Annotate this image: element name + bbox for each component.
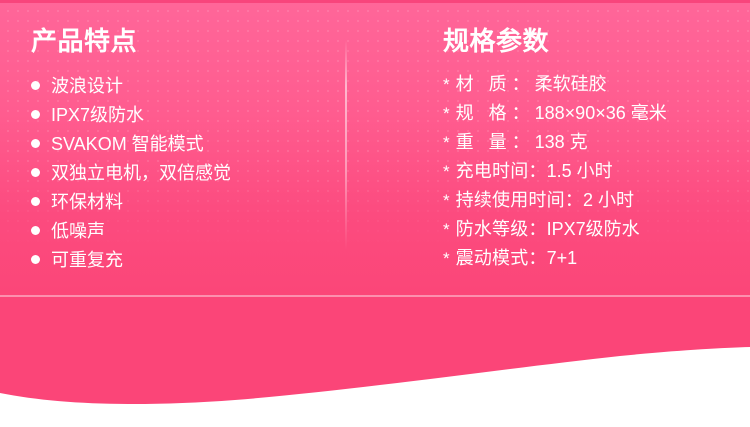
info-section: 产品特点 波浪设计 IPX7级防水 SVAKOM 智能模式 双独立电机，双倍感觉 xyxy=(0,2,750,297)
spec-value: 1.5 小时 xyxy=(547,157,613,183)
table-row: * 充电时间： 1.5 小时 xyxy=(443,157,743,186)
features-list: 波浪设计 IPX7级防水 SVAKOM 智能模式 双独立电机，双倍感觉 环保材料 xyxy=(31,54,341,274)
spec-value: 柔软硅胶 xyxy=(535,70,607,96)
list-item: 可重复充 xyxy=(31,245,341,274)
spec-value: 2 小时 xyxy=(583,186,634,212)
spec-value: 188×90×36 毫米 xyxy=(535,99,667,125)
table-row: * 震动模式： 7+1 xyxy=(443,244,743,273)
feature-label: SVAKOM 智能模式 xyxy=(51,135,204,153)
bullet-icon xyxy=(31,197,40,206)
table-row: * 持续使用时间： 2 小时 xyxy=(443,186,743,215)
list-item: IPX7级防水 xyxy=(31,100,341,129)
asterisk-icon: * xyxy=(443,221,450,238)
features-panel: 产品特点 波浪设计 IPX7级防水 SVAKOM 智能模式 双独立电机，双倍感觉 xyxy=(31,2,341,274)
table-row: * 规 格： 188×90×36 毫米 xyxy=(443,99,743,128)
spec-value: IPX7级防水 xyxy=(547,215,640,241)
feature-label: 低噪声 xyxy=(51,222,105,240)
asterisk-icon: * xyxy=(443,105,450,122)
table-row: * 材 质： 柔软硅胶 xyxy=(443,70,743,99)
features-panel-title: 产品特点 xyxy=(31,2,341,54)
spec-key: 防水等级： xyxy=(456,215,547,241)
panel-divider xyxy=(345,40,347,250)
wave-decoration xyxy=(0,347,750,427)
feature-label: 波浪设计 xyxy=(51,77,123,95)
feature-label: IPX7级防水 xyxy=(51,106,144,124)
spec-value: 7+1 xyxy=(547,248,578,269)
bullet-icon xyxy=(31,168,40,177)
spec-key: 持续使用时间： xyxy=(456,186,583,212)
top-hairline xyxy=(0,0,750,3)
spec-key: 震动模式： xyxy=(456,244,547,270)
section-separator-line xyxy=(0,295,750,297)
bullet-icon xyxy=(31,110,40,119)
bullet-icon xyxy=(31,81,40,90)
bullet-icon xyxy=(31,139,40,148)
feature-label: 双独立电机，双倍感觉 xyxy=(51,164,231,182)
specs-panel-title: 规格参数 xyxy=(443,2,743,54)
asterisk-icon: * xyxy=(443,250,450,267)
feature-label: 环保材料 xyxy=(51,193,123,211)
specs-panel: 规格参数 * 材 质： 柔软硅胶 * 规 格： 188×90×36 毫米 * 重… xyxy=(443,2,743,273)
feature-label: 可重复充 xyxy=(51,251,123,269)
asterisk-icon: * xyxy=(443,76,450,93)
list-item: SVAKOM 智能模式 xyxy=(31,129,341,158)
table-row: * 重 量： 138 克 xyxy=(443,128,743,157)
spec-key: 材 质： xyxy=(456,70,535,96)
list-item: 双独立电机，双倍感觉 xyxy=(31,158,341,187)
spec-value: 138 克 xyxy=(535,128,588,154)
asterisk-icon: * xyxy=(443,134,450,151)
list-item: 低噪声 xyxy=(31,216,341,245)
specs-list: * 材 质： 柔软硅胶 * 规 格： 188×90×36 毫米 * 重 量： 1… xyxy=(443,54,743,273)
bullet-icon xyxy=(31,226,40,235)
asterisk-icon: * xyxy=(443,192,450,209)
bullet-icon xyxy=(31,255,40,264)
list-item: 波浪设计 xyxy=(31,71,341,100)
table-row: * 防水等级： IPX7级防水 xyxy=(443,215,743,244)
wave-section xyxy=(0,297,750,427)
spec-key: 重 量： xyxy=(456,128,535,154)
list-item: 环保材料 xyxy=(31,187,341,216)
spec-key: 充电时间： xyxy=(456,157,547,183)
spec-key: 规 格： xyxy=(456,99,535,125)
asterisk-icon: * xyxy=(443,163,450,180)
product-info-banner: 产品特点 波浪设计 IPX7级防水 SVAKOM 智能模式 双独立电机，双倍感觉 xyxy=(0,0,750,427)
